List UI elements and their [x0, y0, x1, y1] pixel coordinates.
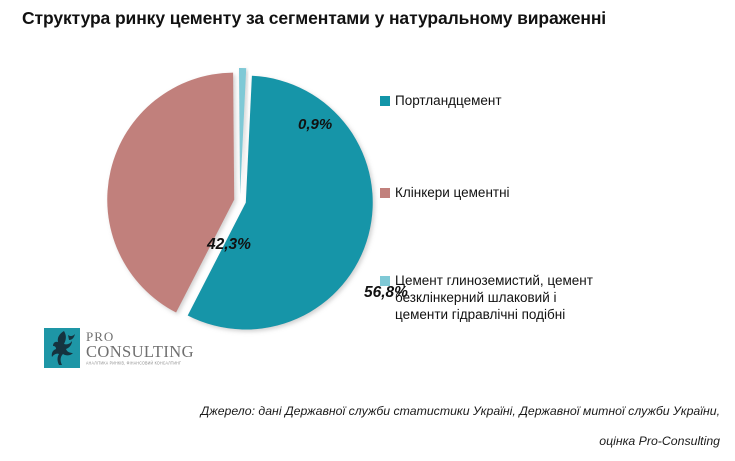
- source-line-1: Джерело: дані Державної служби статистик…: [150, 396, 720, 426]
- legend-item-glinozemisty[interactable]: Цемент глиноземистий, цемент безклінкерн…: [380, 272, 593, 323]
- legend-item-portlandcement[interactable]: Портландцемент: [380, 92, 502, 109]
- chart-container: Структура ринку цементу за сегментами у …: [0, 0, 735, 461]
- logo-consulting-text: CONSULTING: [86, 344, 194, 361]
- legend-swatch-icon: [380, 188, 390, 198]
- logo-text: PRO CONSULTING АНАЛІТИКА РИНКІВ, ФІНАНСО…: [86, 330, 194, 366]
- logo-mark-icon: [44, 328, 80, 368]
- source-line-2: оцінка Pro-Consulting: [150, 426, 720, 456]
- legend-label-klinkery: Клінкери цементні: [395, 184, 510, 201]
- legend-item-klinkery[interactable]: Клінкери цементні: [380, 184, 510, 201]
- legend-swatch-icon: [380, 276, 390, 286]
- logo-pro-text: PRO: [86, 330, 194, 343]
- source-note: Джерело: дані Державної служби статистик…: [150, 396, 720, 456]
- pro-consulting-logo: PRO CONSULTING АНАЛІТИКА РИНКІВ, ФІНАНСО…: [44, 328, 194, 368]
- chart-title: Структура ринку цементу за сегментами у …: [22, 8, 722, 29]
- legend-label-glinozemisty: Цемент глиноземистий, цемент безклінкерн…: [395, 272, 593, 323]
- pie-slice-glinozemisty[interactable]: [239, 68, 246, 195]
- pie-label-glinozemisty: 0,9%: [298, 116, 332, 133]
- legend-label-portlandcement: Портландцемент: [395, 92, 502, 109]
- logo-tagline-text: АНАЛІТИКА РИНКІВ, ФІНАНСОВИЙ КОНСАЛТИНГ: [86, 362, 194, 366]
- pie-chart: 0,9% 42,3% 56,8%: [95, 58, 385, 343]
- legend-swatch-icon: [380, 96, 390, 106]
- pie-label-klinkery: 42,3%: [207, 236, 251, 254]
- pie-svg: [95, 58, 385, 343]
